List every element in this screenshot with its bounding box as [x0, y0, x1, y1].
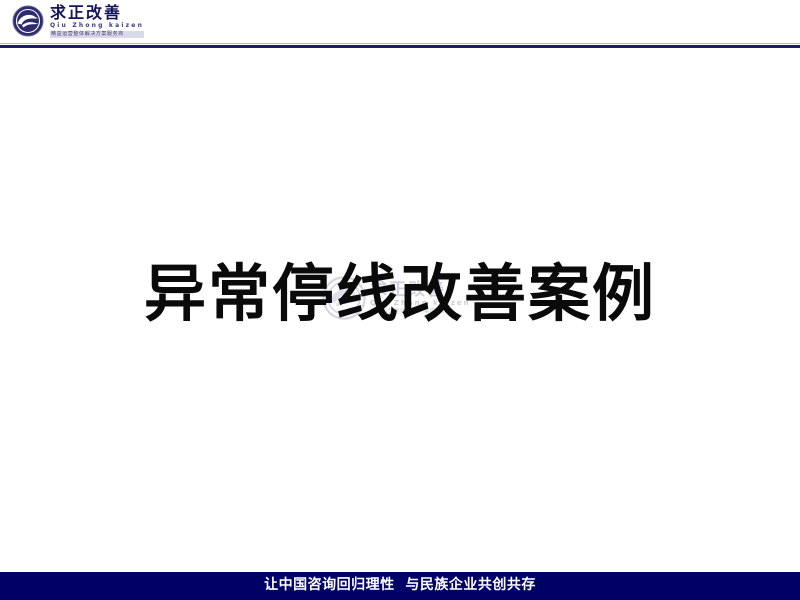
circular-swoosh-emblem-icon [12, 5, 44, 37]
footer-slogan: 让中国咨询回归理性 与民族企业共创共存 [0, 574, 800, 596]
presentation-slide: 求正改善 Qiu Zhong kaizen 精益运营整体解决方案服务商 求正改善… [0, 0, 800, 600]
brand-logo: 求正改善 Qiu Zhong kaizen 精益运营整体解决方案服务商 [12, 3, 272, 43]
brand-text-block: 求正改善 Qiu Zhong kaizen 精益运营整体解决方案服务商 [50, 3, 144, 38]
header-divider-rule [0, 45, 800, 48]
brand-tagline: 精益运营整体解决方案服务商 [50, 31, 144, 38]
slide-title: 异常停线改善案例 [0, 258, 800, 330]
header-hairline [0, 43, 800, 44]
brand-name-pinyin: Qiu Zhong kaizen [50, 22, 144, 30]
brand-name-cn: 求正改善 [50, 4, 144, 21]
